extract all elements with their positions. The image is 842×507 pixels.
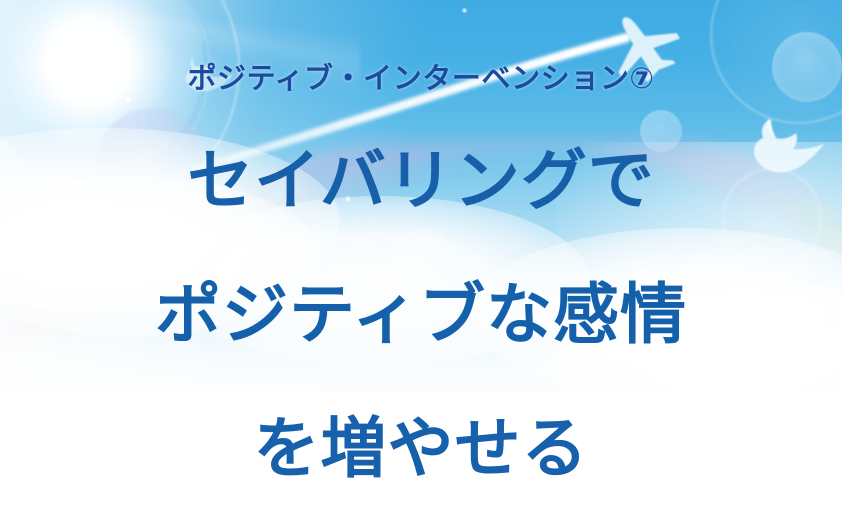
sparkle-dot-1 <box>125 96 132 103</box>
slide-canvas: ポジティブ・インターベンション⑦ セイバリングで ポジティブな感情 を増やせる <box>0 0 842 507</box>
sparkle-dot-2 <box>58 97 63 102</box>
sparkle-dot-4 <box>462 8 467 13</box>
slide-title-line-3: を増やせる <box>0 415 842 481</box>
slide-title-line-2: ポジティブな感情 <box>0 281 842 347</box>
slide-subtitle: ポジティブ・インターベンション⑦ <box>0 55 842 97</box>
slide-title-line-1: セイバリングで <box>0 147 842 213</box>
